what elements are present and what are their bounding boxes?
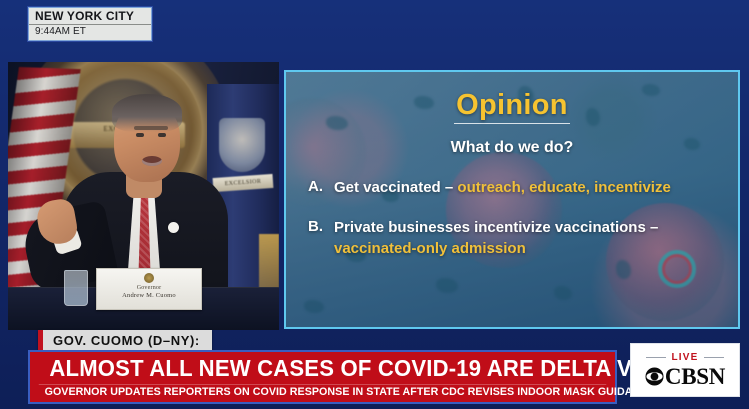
live-rule-left xyxy=(646,357,666,358)
bullet-marker: A. xyxy=(308,177,334,197)
slide-title: Opinion xyxy=(302,88,722,122)
live-indicator: LIVE xyxy=(646,352,723,363)
headline-secondary: GOVERNOR UPDATES REPORTERS ON COVID RESP… xyxy=(39,384,606,402)
bullet-text-highlight: vaccinated-only admission xyxy=(334,238,658,259)
speaker-brow xyxy=(134,126,168,130)
location-city-label: NEW YORK CITY xyxy=(29,8,151,25)
speaker-mouth xyxy=(142,156,162,166)
water-glass xyxy=(64,270,88,306)
speaker-eye-right xyxy=(158,133,166,137)
speaker-lapel-pin xyxy=(168,222,179,233)
slide-subtitle: What do we do? xyxy=(302,138,722,158)
lower-third: GOV. CUOMO (D–NY): ALMOST ALL NEW CASES … xyxy=(0,330,749,409)
brand-row: CBSN xyxy=(645,365,725,388)
slide-bullet-a: A. Get vaccinated – outreach, educate, i… xyxy=(302,177,722,198)
bullet-marker: B. xyxy=(308,217,334,237)
bullet-text: Get vaccinated – outreach, educate, ince… xyxy=(334,177,671,198)
slide-bullet-b: B. Private businesses incentivize vaccin… xyxy=(302,217,722,259)
slide-content: Opinion What do we do? A. Get vaccinated… xyxy=(286,72,738,327)
nameplate-name: Andrew M. Cuomo xyxy=(97,292,201,300)
location-time-label: 9:44AM ET xyxy=(29,25,151,40)
cbs-eye-icon xyxy=(645,367,664,386)
bullet-text: Private businesses incentivize vaccinati… xyxy=(334,217,658,259)
brand-name: CBSN xyxy=(665,365,725,388)
location-time-badge: NEW YORK CITY 9:44AM ET xyxy=(28,7,152,41)
presentation-slide: Opinion What do we do? A. Get vaccinated… xyxy=(284,70,740,329)
speaker-tag: GOV. CUOMO (D–NY): xyxy=(38,330,212,350)
slide-title-underline xyxy=(454,123,570,124)
speaker-eye-left xyxy=(136,133,144,137)
network-logo-bug: LIVE CBSN xyxy=(630,343,740,397)
camera-feed: EXCELSIOR EXCELSIOR xyxy=(8,62,279,330)
bullet-text-plain: Private businesses incentivize vaccinati… xyxy=(334,219,658,236)
bullet-text-highlight: outreach, educate, incentivize xyxy=(457,179,670,196)
nameplate-seal-icon xyxy=(144,273,154,283)
headline-primary: ALMOST ALL NEW CASES OF COVID-19 ARE DEL… xyxy=(42,352,604,384)
desk-nameplate: Governor Andrew M. Cuomo xyxy=(96,268,202,310)
bullet-text-plain: Get vaccinated – xyxy=(334,179,457,196)
nameplate-title: Governor xyxy=(97,285,201,292)
speaker-tag-label: GOV. CUOMO (D–NY): xyxy=(43,330,212,350)
headline-banner: ALMOST ALL NEW CASES OF COVID-19 ARE DEL… xyxy=(28,350,617,404)
live-label: LIVE xyxy=(671,352,698,363)
broadcast-frame: NEW YORK CITY 9:44AM ET EXCELSIOR EXCELS… xyxy=(0,0,749,409)
live-rule-right xyxy=(704,357,724,358)
